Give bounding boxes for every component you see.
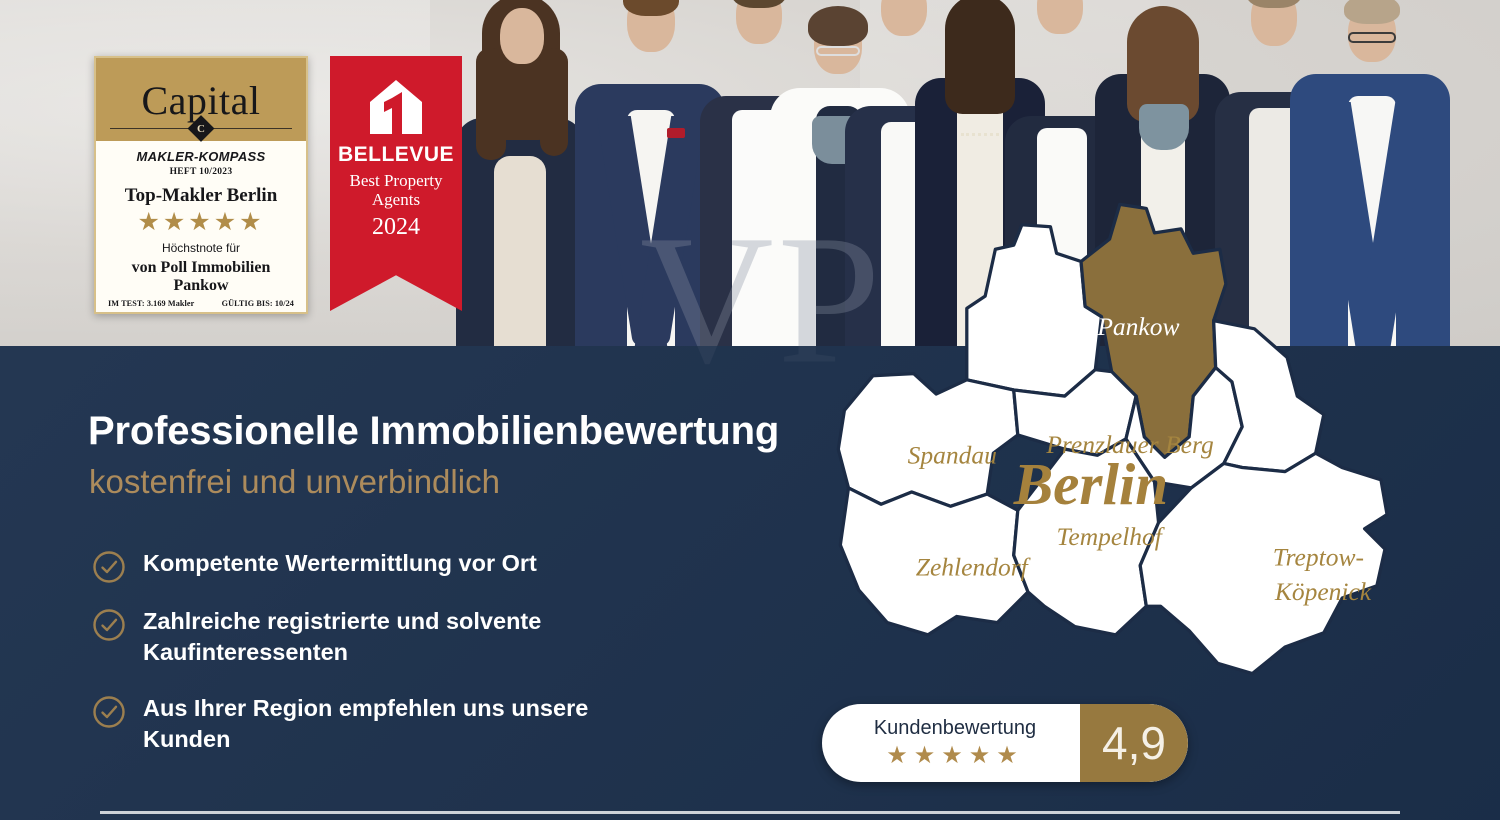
capital-stars: ★★★★★ [137,210,264,235]
list-item: Aus Ihrer Region empfehlen uns unsere Ku… [92,693,732,756]
list-item: Zahlreiche registrierte und solvente Kau… [92,606,732,669]
capital-kompass-label: MAKLER-KOMPASS [137,149,266,164]
team-member [460,0,580,346]
capital-badge-body: MAKLER-KOMPASS HEFT 10/2023 Top-Makler B… [96,141,306,312]
rating-label: Kundenbewertung [874,718,1036,738]
capital-company-line2: Pankow [173,277,228,294]
check-circle-icon [92,608,126,642]
capital-test-count: IM TEST: 3.169 Makler [108,299,194,308]
bellevue-subtitle-line2: Agents [372,190,420,209]
list-item-label: Aus Ihrer Region empfehlen uns unsere Ku… [143,693,603,756]
capital-company-name: von Poll Immobilien Pankow [132,259,271,295]
house-with-one-icon [368,78,424,136]
list-item: Kompetente Wertermittlung vor Ort [92,548,732,584]
berlin-district-map: Spandau Prenzlauer Berg Pankow Zehlendor… [800,186,1460,696]
bellevue-subtitle-line1: Best Property [349,171,442,190]
map-label-treptow: Treptow- [1273,542,1364,571]
capital-hoechstnote-label: Höchstnote für [162,241,240,255]
rating-label-group: Kundenbewertung ★★★★★ [822,704,1080,782]
bellevue-award-badge: BELLEVUE Best Property Agents 2024 [330,56,462,311]
capital-valid-until: GÜLTIG BIS: 10/24 [222,299,294,308]
map-label-spandau: Spandau [908,440,997,469]
map-label-koepenick: Köpenick [1274,577,1372,606]
benefits-list: Kompetente Wertermittlung vor Ort Zahlre… [92,548,732,755]
capital-badge-footer: IM TEST: 3.169 Makler GÜLTIG BIS: 10/24 [102,295,300,312]
marketing-landing-page: VP VP Capital C MAKLER-KOMPASS HEFT 10/2… [0,0,1500,820]
page-headline: Professionelle Immobilienbewertung [88,409,779,454]
bellevue-subtitle: Best Property Agents [349,172,442,209]
capital-badge-header: Capital C [96,58,306,141]
bellevue-year: 2024 [372,214,420,241]
map-label-pankow: Pankow [1096,312,1179,341]
map-title-berlin: Berlin [1013,451,1169,517]
capital-diamond-letter: C [197,123,205,135]
page-subheadline: kostenfrei und unverbindlich [89,463,500,501]
capital-issue-label: HEFT 10/2023 [170,167,233,177]
check-circle-icon [92,550,126,584]
capital-company-line1: von Poll Immobilien [132,259,271,276]
map-label-tempelhof: Tempelhof [1057,522,1166,551]
map-region [967,225,1102,396]
capital-title: Top-Makler Berlin [125,185,278,207]
map-label-zehlendorf: Zehlendorf [916,553,1032,582]
list-item-label: Zahlreiche registrierte und solvente Kau… [143,606,643,669]
check-circle-icon [92,695,126,729]
bottom-divider [100,811,1400,814]
bellevue-wordmark: BELLEVUE [338,143,454,167]
rating-stars: ★★★★★ [886,744,1024,768]
customer-rating-badge: Kundenbewertung ★★★★★ 4,9 [822,704,1188,782]
list-item-label: Kompetente Wertermittlung vor Ort [143,548,537,579]
rating-score: 4,9 [1080,704,1188,782]
capital-award-badge: Capital C MAKLER-KOMPASS HEFT 10/2023 To… [94,56,308,314]
